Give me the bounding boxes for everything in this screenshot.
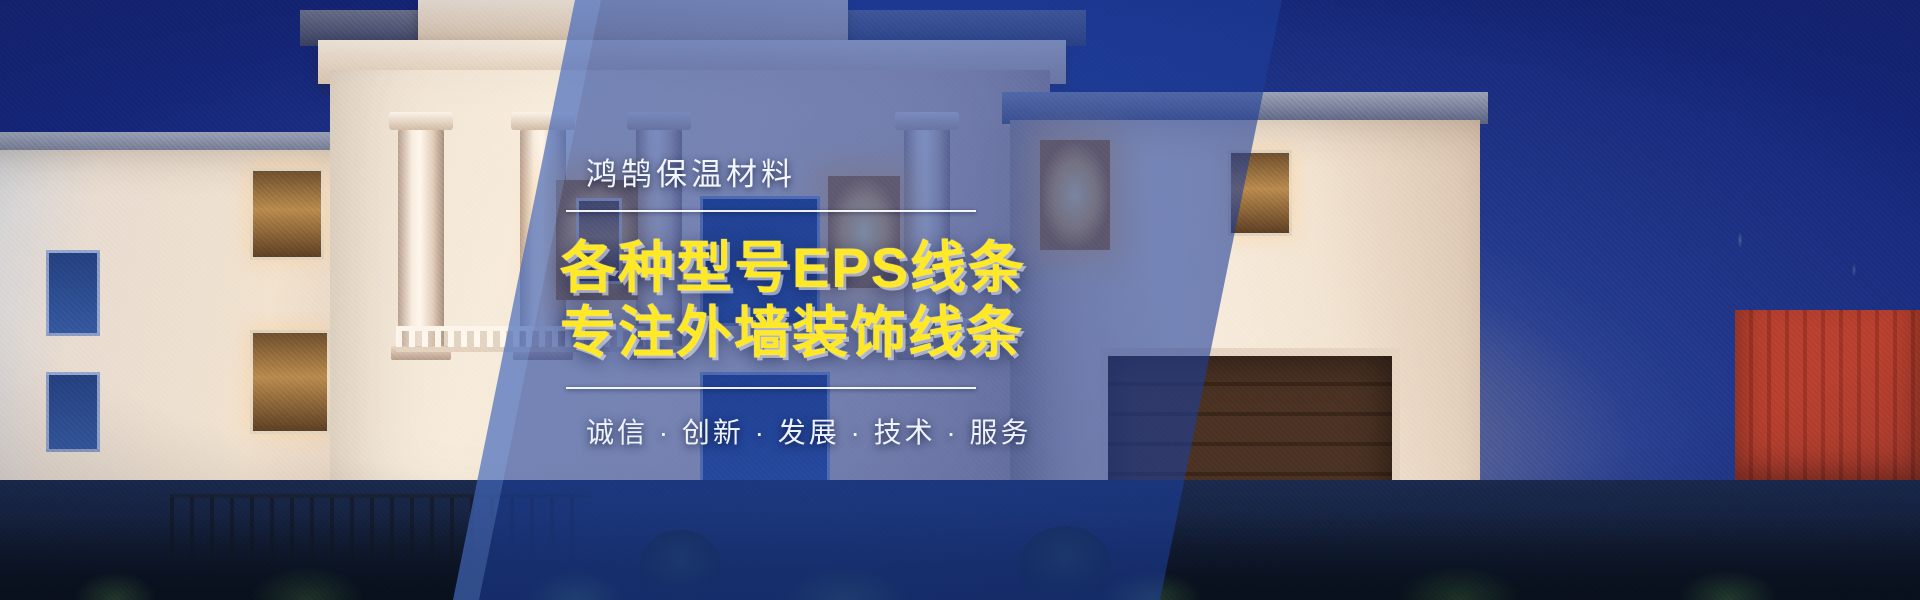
banner-text-block: 鸿鹄保温材料 各种型号EPS线条 专注外墙装饰线条 诚信 · 创新 · 发展 ·… [560,0,1030,600]
divider-top [566,210,976,212]
brand-name: 鸿鹄保温材料 [586,149,796,194]
promo-banner: 鸿鹄保温材料 各种型号EPS线条 专注外墙装饰线条 诚信 · 创新 · 发展 ·… [0,0,1920,600]
headline: 各种型号EPS线条 专注外墙装饰线条 [560,236,1026,366]
headline-line-2: 专注外墙装饰线条 [560,301,1026,366]
divider-bottom [566,387,976,389]
headline-line-1: 各种型号EPS线条 [560,236,1026,301]
tagline: 诚信 · 创新 · 发展 · 技术 · 服务 [586,411,1032,451]
